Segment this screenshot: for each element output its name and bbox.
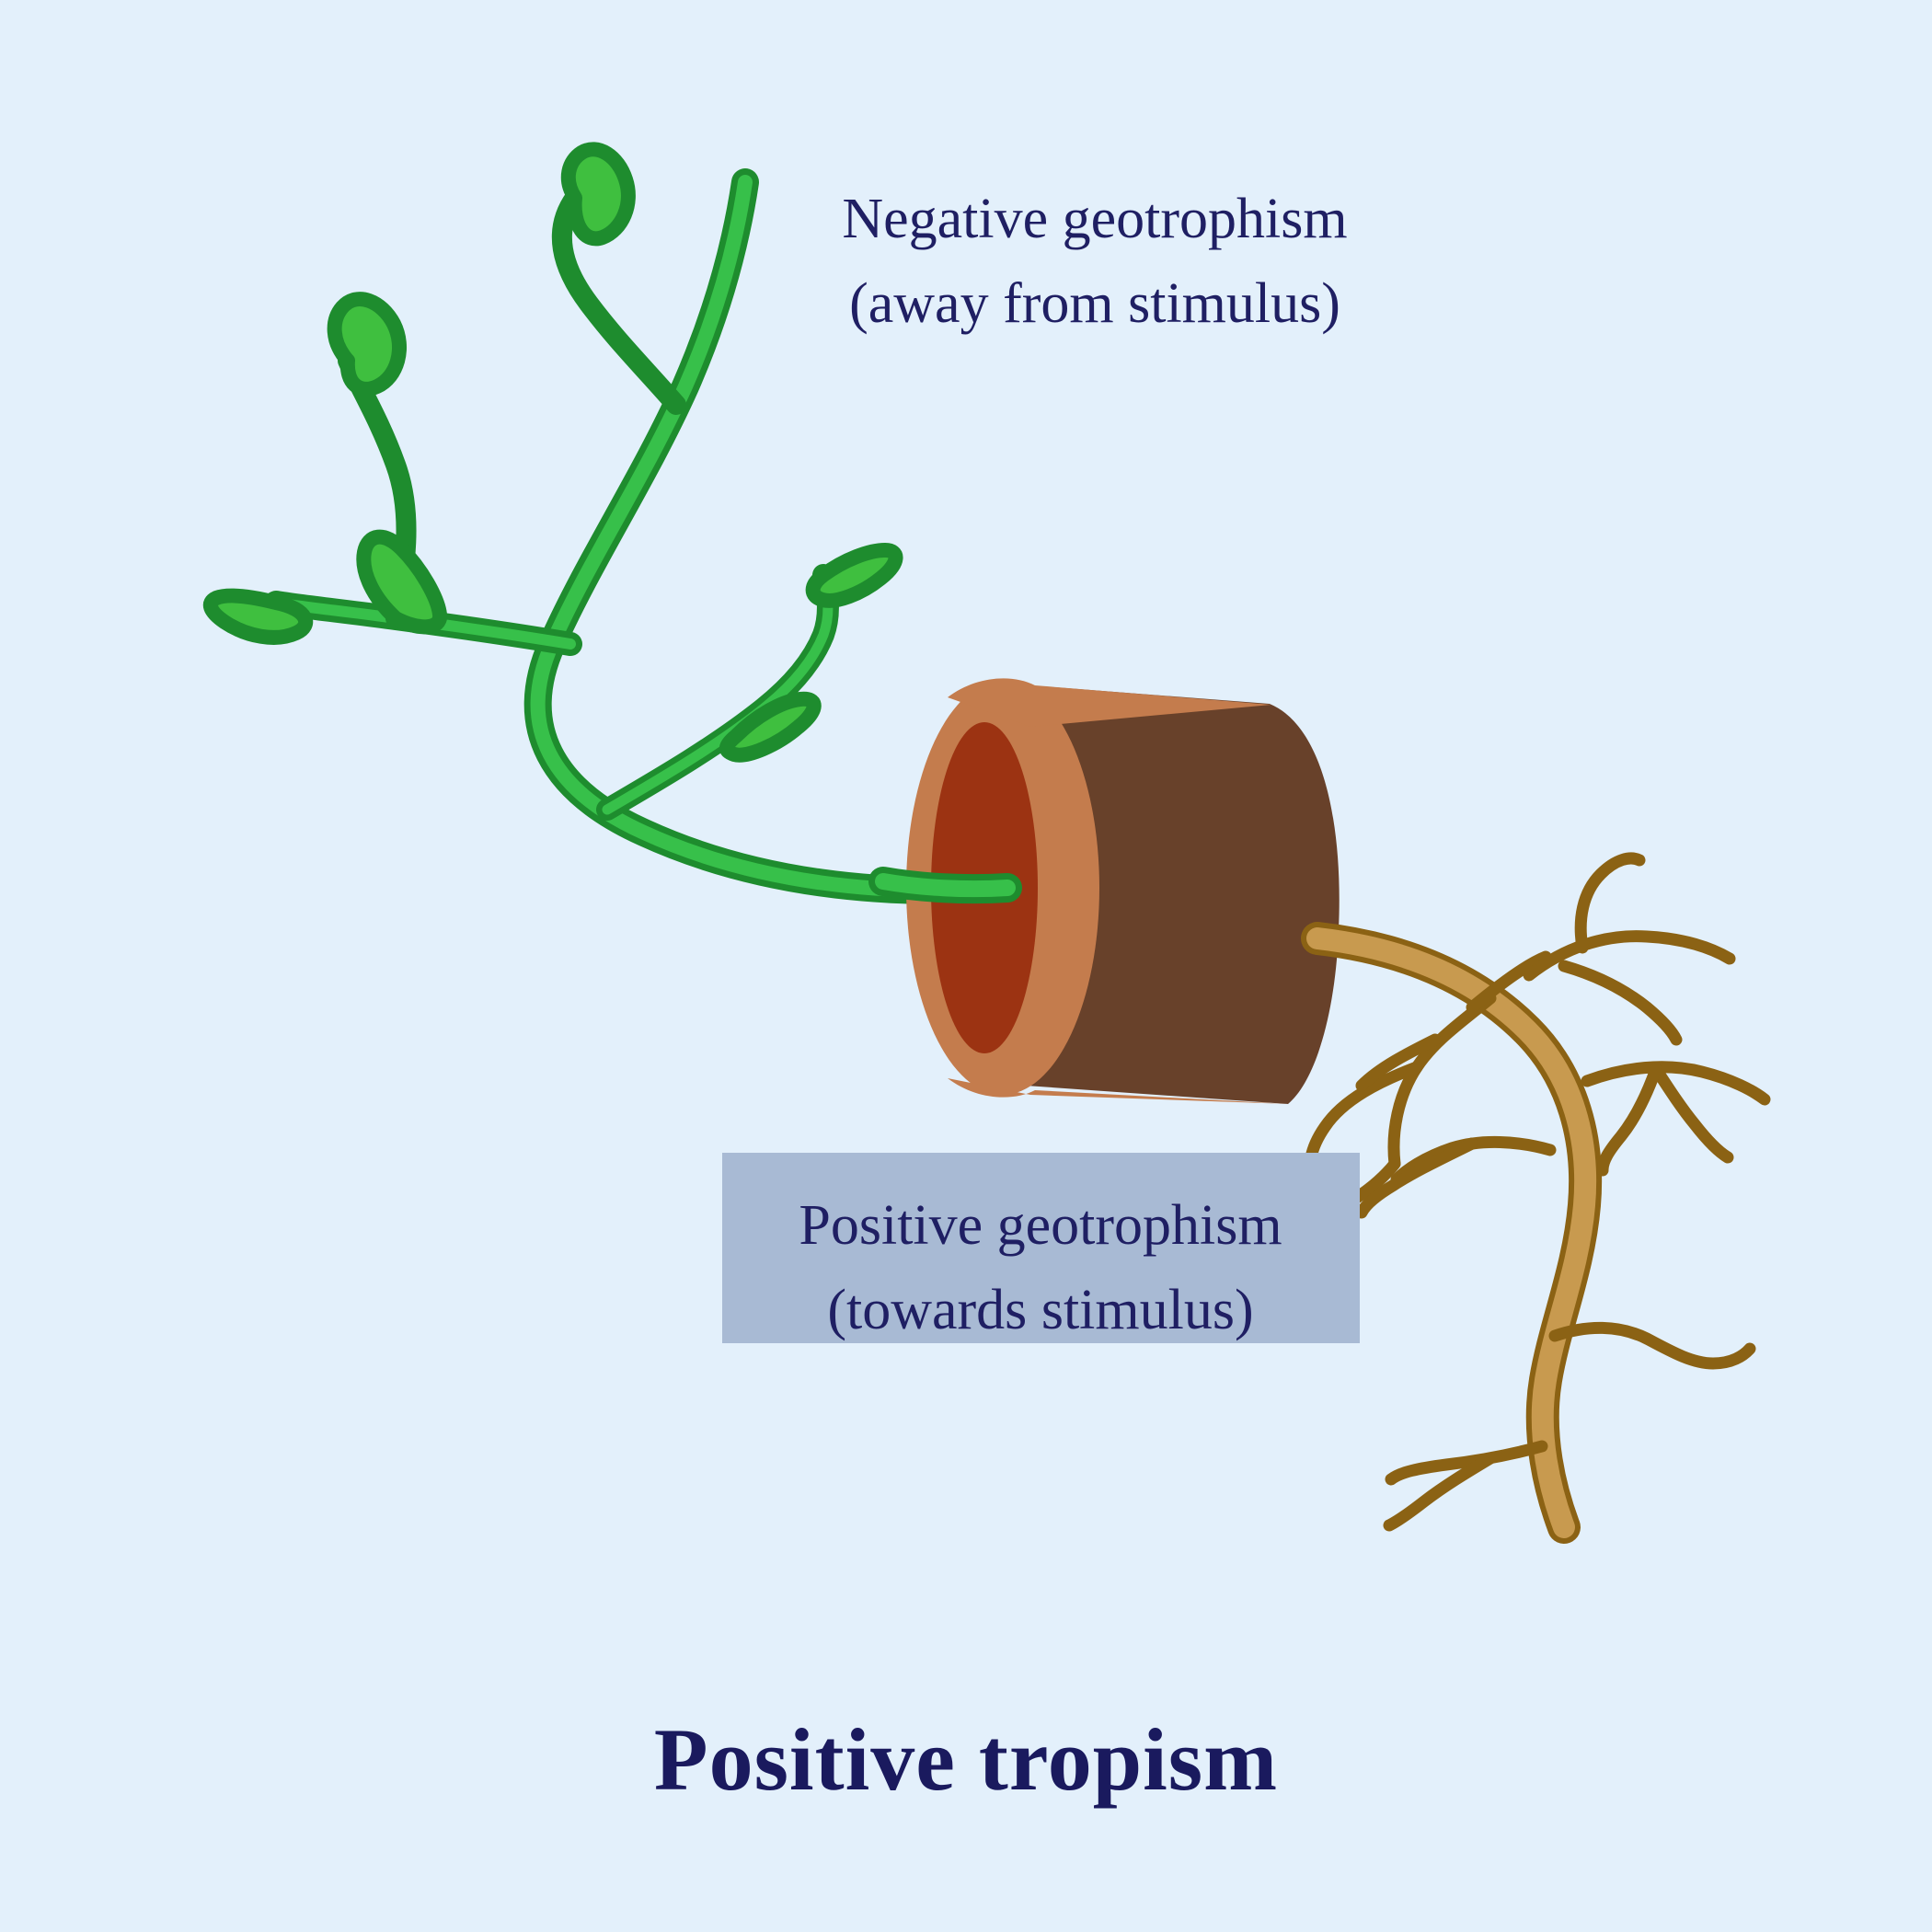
positive-label-line1: Positive geotrophism bbox=[799, 1194, 1282, 1257]
negative-label-line1: Negative geotrophism bbox=[842, 188, 1347, 250]
leaf-top bbox=[569, 149, 628, 238]
figure-title: Positive tropism bbox=[654, 1710, 1278, 1809]
positive-label-line2: (towards stimulus) bbox=[827, 1279, 1253, 1341]
leaf-upper-left bbox=[335, 299, 399, 389]
tropism-diagram: Negative geotrophism (away from stimulus… bbox=[0, 0, 1932, 1932]
label-positive-geotrophism: Positive geotrophism (towards stimulus) bbox=[722, 1153, 1360, 1343]
negative-label-line2: (away from stimulus) bbox=[849, 272, 1340, 335]
shoot-stem-in-soil bbox=[883, 881, 1007, 889]
